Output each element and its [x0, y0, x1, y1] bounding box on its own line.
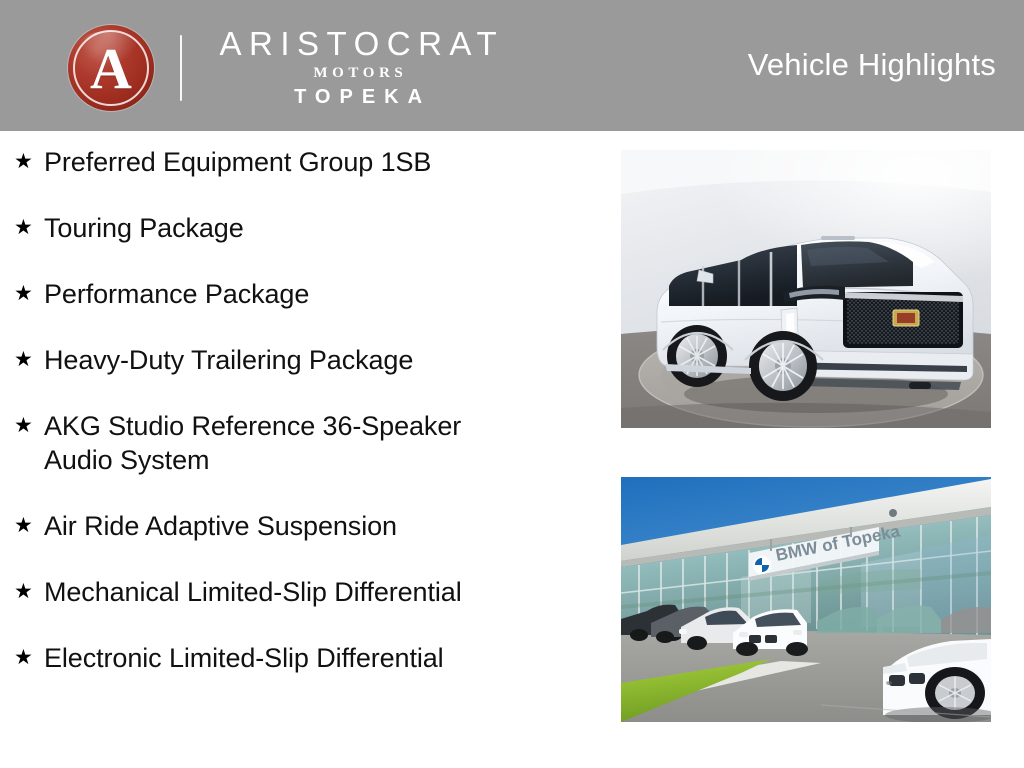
highlight-item: ★Mechanical Limited-Slip Differential — [14, 575, 604, 609]
dealership-photo-image: BMW of Topeka — [621, 477, 991, 722]
slide-root: A ARISTOCRAT MOTORS TOPEKA Vehicle Highl… — [0, 0, 1024, 768]
highlight-item: ★Heavy-Duty Trailering Package — [14, 343, 604, 377]
star-bullet-icon: ★ — [14, 343, 44, 377]
highlight-item: ★Touring Package — [14, 211, 604, 245]
highlight-label: Mechanical Limited-Slip Differential — [44, 575, 462, 609]
dealership-photo: BMW of Topeka — [621, 477, 991, 722]
vehicle-highlights-list: ★Preferred Equipment Group 1SB★Touring P… — [14, 145, 604, 707]
page-title: Vehicle Highlights — [748, 47, 996, 83]
highlight-item: ★Air Ride Adaptive Suspension — [14, 509, 604, 543]
brand-lockup: A ARISTOCRAT MOTORS TOPEKA — [68, 22, 504, 114]
highlight-label: Performance Package — [44, 277, 309, 311]
star-bullet-icon: ★ — [14, 641, 44, 675]
highlight-item: ★Performance Package — [14, 277, 604, 311]
highlight-label: AKG Studio Reference 36-Speaker Audio Sy… — [44, 409, 461, 477]
highlight-item: ★AKG Studio Reference 36-Speaker Audio S… — [14, 409, 604, 477]
brand-name: ARISTOCRAT — [212, 27, 504, 62]
highlight-label: Touring Package — [44, 211, 244, 245]
highlight-label: Heavy-Duty Trailering Package — [44, 343, 413, 377]
brand-divider — [180, 35, 182, 101]
star-bullet-icon: ★ — [14, 509, 44, 543]
vehicle-photo-image — [621, 150, 991, 428]
star-bullet-icon: ★ — [14, 277, 44, 311]
highlight-label: Electronic Limited-Slip Differential — [44, 641, 444, 675]
star-bullet-icon: ★ — [14, 575, 44, 609]
aristocrat-emblem-icon: A — [68, 25, 154, 111]
brand-city: TOPEKA — [285, 84, 431, 111]
brand-subtitle: MOTORS — [309, 62, 408, 85]
highlight-item: ★Electronic Limited-Slip Differential — [14, 641, 604, 675]
emblem-letter: A — [90, 40, 132, 98]
brand-wordmark: ARISTOCRAT MOTORS TOPEKA — [212, 25, 504, 111]
highlight-item: ★Preferred Equipment Group 1SB — [14, 145, 604, 179]
star-bullet-icon: ★ — [14, 211, 44, 245]
star-bullet-icon: ★ — [14, 145, 44, 179]
star-bullet-icon: ★ — [14, 409, 44, 443]
header-band: A ARISTOCRAT MOTORS TOPEKA Vehicle Highl… — [0, 0, 1024, 131]
vehicle-photo — [621, 150, 991, 428]
highlight-label: Preferred Equipment Group 1SB — [44, 145, 431, 179]
highlight-label: Air Ride Adaptive Suspension — [44, 509, 397, 543]
